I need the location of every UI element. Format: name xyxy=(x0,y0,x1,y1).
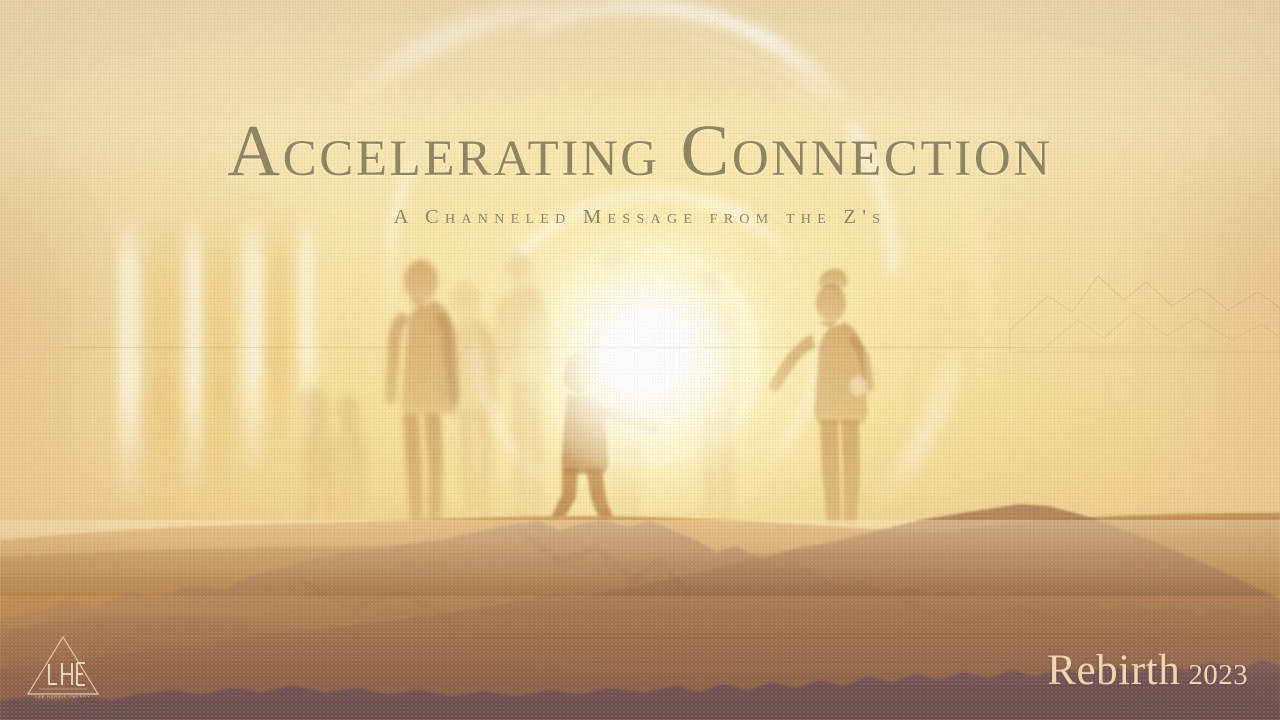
series-badge: Rebirth 2023 xyxy=(1047,649,1248,692)
series-year: 2023 xyxy=(1188,661,1248,690)
triangle-logo-icon xyxy=(22,630,104,702)
brand-logo[interactable]: Lee Harris Energy xyxy=(22,630,104,702)
series-label: Rebirth xyxy=(1047,649,1180,692)
page-subtitle: A Channeled Message from the Z's xyxy=(0,206,1280,229)
paper-grain-light xyxy=(0,0,1280,720)
poster-canvas: Accelerating Connection A Channeled Mess… xyxy=(0,0,1280,720)
page-title: Accelerating Connection xyxy=(0,112,1280,190)
brand-tagline: Lee Harris Energy xyxy=(22,695,104,699)
title-block: Accelerating Connection A Channeled Mess… xyxy=(0,112,1280,229)
